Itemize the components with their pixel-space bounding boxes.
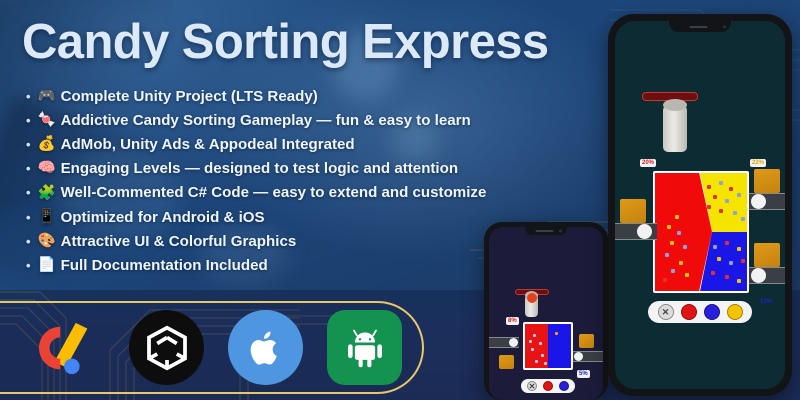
feature-item-3: • 🧠 Engaging Levels — designed to test l… [26,157,601,181]
apple-logo [228,310,303,385]
money-bag-icon: 💰 [38,137,55,152]
bullet-icon: • [26,186,31,199]
feature-text: Full Documentation Included [61,257,268,274]
percent-badge-red: 20% [640,159,656,167]
game-board [523,322,573,370]
feature-item-0: • 🎮 Complete Unity Project (LTS Ready) [26,84,601,108]
palette-icon: 🎨 [38,234,55,249]
phone-screen-large: 20% 22% 13% [615,21,785,389]
feature-text: Engaging Levels — designed to test logic… [61,160,459,177]
crate-right [579,334,594,348]
badge-value: 22% [752,160,764,166]
speaker-grill-icon [690,26,708,28]
color-dot-yellow[interactable] [727,304,743,320]
crate-right-bottom [754,243,780,267]
front-camera-icon [723,25,726,28]
bullet-icon: • [26,90,31,103]
brain-icon: 🧠 [38,161,55,176]
candy-icon: 🍬 [38,113,55,128]
feature-text: Addictive Candy Sorting Gameplay — fun &… [61,112,471,129]
badge-value: 5% [579,371,588,377]
zone-blue [548,324,571,368]
promo-banner: Candy Sorting Express • 🎮 Complete Unity… [0,0,800,400]
feature-item-4: • 🧩 Well-Commented C# Code — easy to ext… [26,181,601,205]
phone-mockup-large: 20% 22% 13% [608,14,792,396]
dispenser-top [663,99,687,111]
color-selector-bar: ✕ [521,379,575,393]
phone-notch [525,227,567,235]
color-dot-red[interactable] [543,381,553,391]
candy-dispenser [663,105,687,152]
page-title: Candy Sorting Express [22,14,549,70]
crate-right-top [754,169,780,193]
game-board [653,171,749,293]
bullet-icon: • [26,235,31,248]
bullet-icon: • [26,138,31,151]
front-camera-icon [559,230,562,233]
badge-value: 20% [642,160,654,166]
percent-badge-blue: 13% [758,298,774,306]
conveyor-candy-left [637,224,652,239]
feature-text: AdMob, Unity Ads & Appodeal Integrated [61,136,355,153]
feature-item-2: • 💰 AdMob, Unity Ads & Appodeal Integrat… [26,132,601,156]
android-logo [327,310,402,385]
percent-badge-red: 8% [506,317,519,325]
puzzle-icon: 🧩 [38,186,55,201]
percent-badge-yellow: 22% [750,159,766,167]
gamepad-icon: 🎮 [38,89,55,104]
platform-logos [30,310,402,385]
feature-text: Attractive UI & Colorful Graphics [61,233,297,250]
feature-item-1: • 🍬 Addictive Candy Sorting Gameplay — f… [26,108,601,132]
close-button[interactable]: ✕ [527,381,537,391]
badge-value: 8% [508,318,517,324]
close-button[interactable]: ✕ [658,304,674,320]
conveyor-candy-right-bottom [751,268,766,283]
dispensed-candy [527,293,537,303]
feature-text: Well-Commented C# Code — easy to extend … [61,184,487,201]
conveyor-candy-right-top [751,194,766,209]
color-dot-blue[interactable] [704,304,720,320]
bullet-icon: • [26,211,31,224]
badge-value: 13% [760,299,772,305]
admob-logo [30,310,105,385]
document-icon: 📄 [38,258,55,273]
color-dot-red[interactable] [681,304,697,320]
bullet-icon: • [26,162,31,175]
color-selector-bar: ✕ [648,301,752,323]
phone-screen-small: 8% 5% ✕ [489,227,603,400]
conveyor-candy-right [574,352,583,361]
crate-left [499,355,514,369]
crate-left [620,199,646,223]
unity-logo [129,310,204,385]
mobile-icon: 📱 [38,210,55,225]
phone-mockup-small: 8% 5% ✕ [484,222,608,400]
bullet-icon: • [26,114,31,127]
conveyor-candy-left [509,338,518,347]
speaker-grill-icon [536,230,554,232]
feature-text: Complete Unity Project (LTS Ready) [61,88,318,105]
percent-badge-blue: 5% [577,370,590,378]
feature-text: Optimized for Android & iOS [61,209,265,226]
phone-notch [669,21,731,32]
bullet-icon: • [26,259,31,272]
color-dot-blue[interactable] [559,381,569,391]
